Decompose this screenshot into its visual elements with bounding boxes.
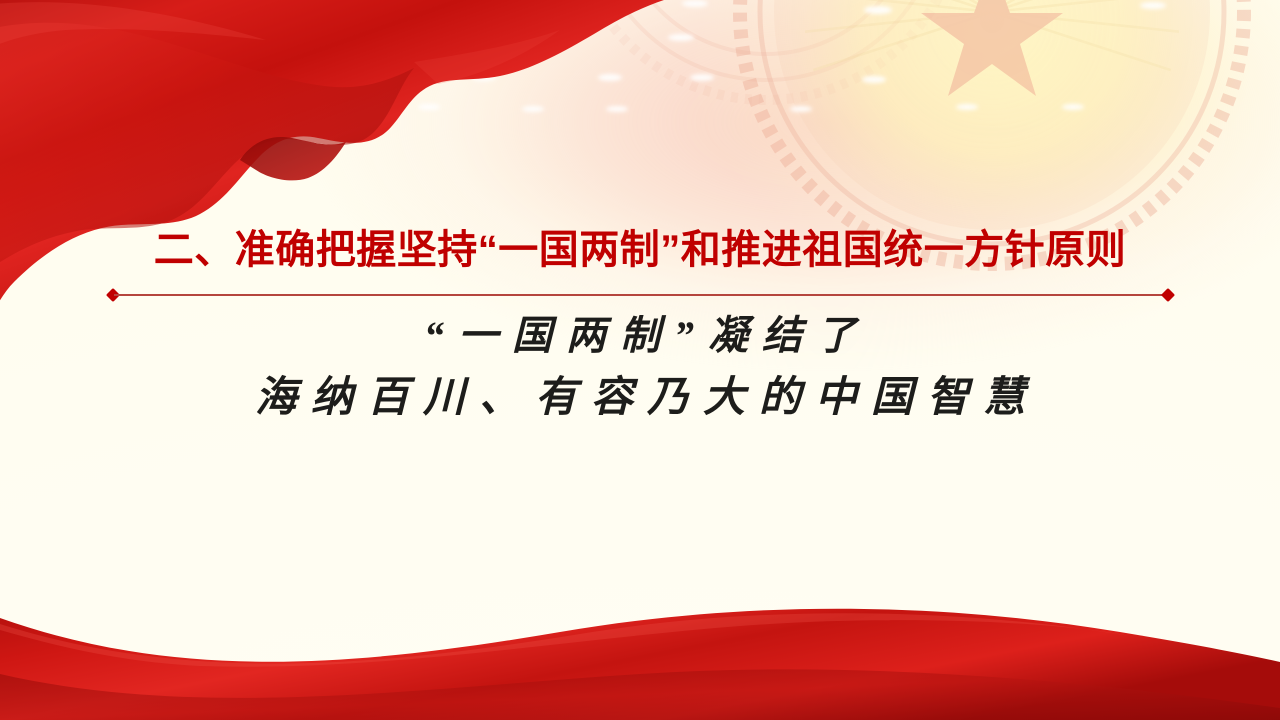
divider-rule xyxy=(114,294,1167,296)
divider-diamond-right-icon xyxy=(1161,288,1175,302)
slide-canvas: 二、准确把握坚持“一国两制”和推进祖国统一方针原则 “一国两制”凝结了 海纳百川… xyxy=(0,0,1280,720)
body-line-2: 海纳百川、有容乃大的中国智慧 xyxy=(0,367,1280,431)
slide-content: 二、准确把握坚持“一国两制”和推进祖国统一方针原则 “一国两制”凝结了 海纳百川… xyxy=(0,0,1280,720)
body-text-block: “一国两制”凝结了 海纳百川、有容乃大的中国智慧 xyxy=(0,306,1280,431)
body-line-1: “一国两制”凝结了 xyxy=(0,306,1280,367)
page-title: 二、准确把握坚持“一国两制”和推进祖国统一方针原则 xyxy=(0,227,1280,273)
section-divider xyxy=(108,290,1173,300)
